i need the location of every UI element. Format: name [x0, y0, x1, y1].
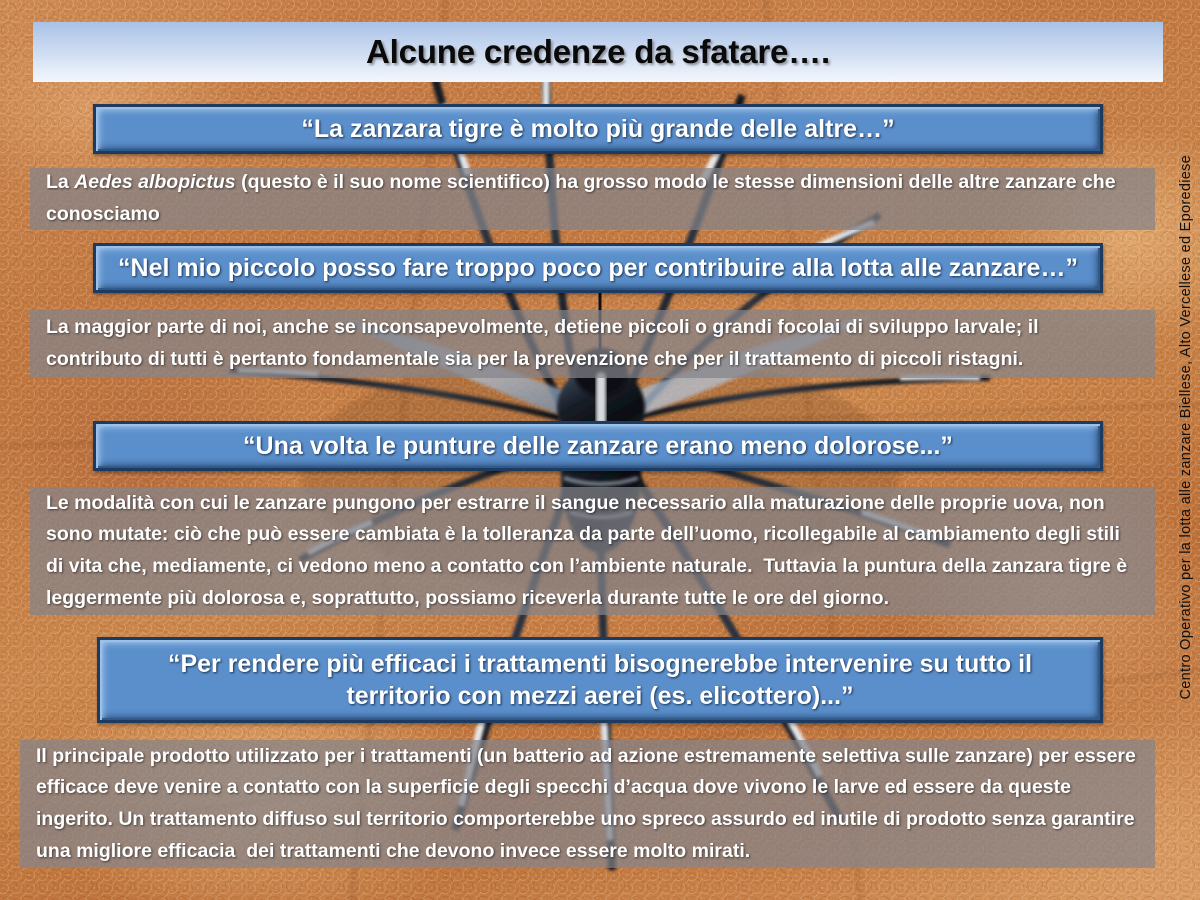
myth-banner-3: “Una volta le punture delle zanzare eran… — [93, 421, 1103, 471]
fact-box-2: La maggior parte di noi, anche se incons… — [30, 310, 1155, 378]
myth-banner-2-text: “Nel mio piccolo posso fare troppo poco … — [96, 252, 1100, 284]
myth-banner-2: “Nel mio piccolo posso fare troppo poco … — [93, 243, 1103, 293]
myth-banner-4: “Per rendere più efficaci i trattamenti … — [97, 637, 1103, 723]
myth-banner-3-text: “Una volta le punture delle zanzare eran… — [96, 430, 1100, 462]
slide-canvas: Alcune credenze da sfatare…. “La zanzara… — [0, 0, 1200, 900]
fact-box-2-text: La maggior parte di noi, anche se incons… — [30, 310, 1155, 377]
fact-box-3-text: Le modalità con cui le zanzare pungono p… — [30, 486, 1155, 616]
myth-banner-1: “La zanzara tigre è molto più grande del… — [93, 104, 1103, 154]
fact-box-1-text: La Aedes albopictus (questo è il suo nom… — [30, 165, 1155, 232]
fact-box-4: Il principale prodotto utilizzato per i … — [20, 740, 1155, 868]
organization-credit: Centro Operativo per la lotta alle zanza… — [1174, 155, 1198, 701]
myth-banner-1-text: “La zanzara tigre è molto più grande del… — [96, 113, 1100, 145]
myth-banner-4-text: “Per rendere più efficaci i trattamenti … — [100, 648, 1100, 712]
page-title: Alcune credenze da sfatare…. — [33, 33, 1163, 71]
fact-box-3: Le modalità con cui le zanzare pungono p… — [30, 487, 1155, 615]
title-banner: Alcune credenze da sfatare…. — [33, 22, 1163, 82]
organization-credit-text: Centro Operativo per la lotta alle zanza… — [1178, 155, 1194, 699]
fact-box-4-text: Il principale prodotto utilizzato per i … — [20, 739, 1155, 869]
fact-box-1: La Aedes albopictus (questo è il suo nom… — [30, 168, 1155, 230]
